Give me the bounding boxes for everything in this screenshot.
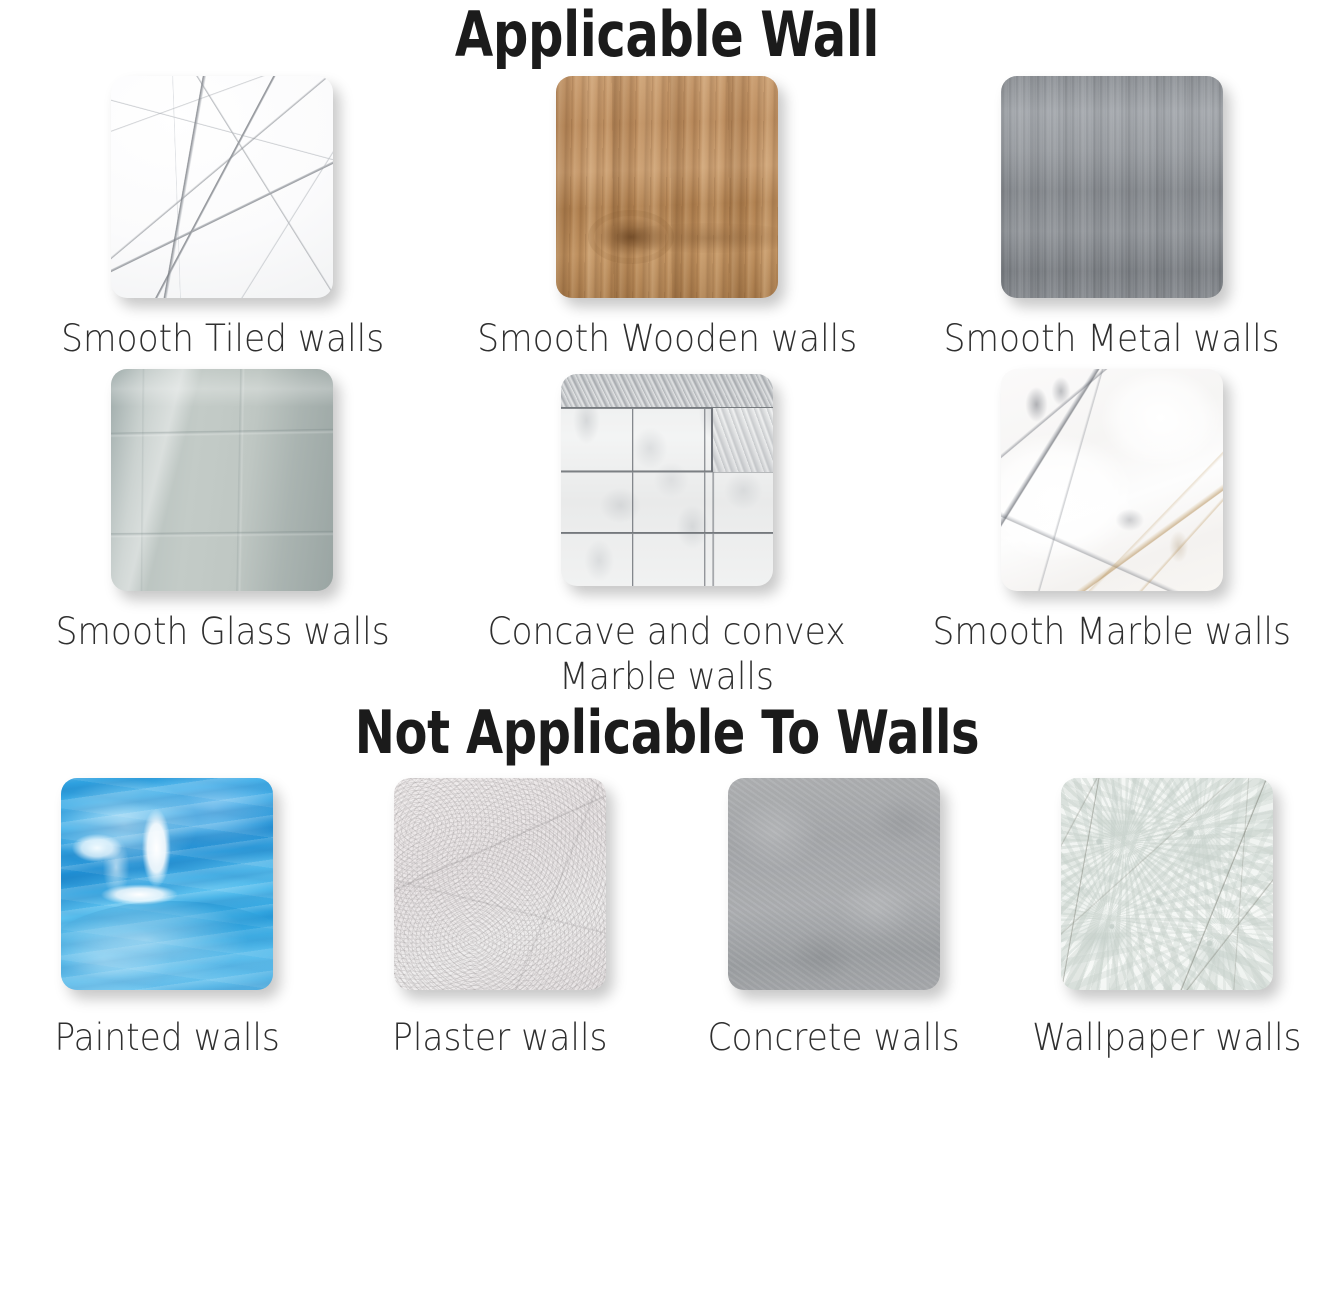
section-heading-not-applicable: Not Applicable To Walls xyxy=(133,701,1200,765)
swatch-cell-smooth-marble[interactable]: Smooth Marble walls xyxy=(889,361,1334,699)
wood-knot xyxy=(594,216,668,258)
swatch-frame xyxy=(561,361,773,599)
swatch-label: Plaster walls xyxy=(393,1015,608,1060)
concrete-swatch xyxy=(728,778,940,990)
swatch-cell-painted[interactable]: Painted walls xyxy=(0,765,334,1060)
swatch-frame xyxy=(1001,68,1223,306)
swatch-label: Smooth Wooden walls xyxy=(477,316,857,361)
swatch-frame xyxy=(111,68,333,306)
swatch-label: Concrete walls xyxy=(708,1015,960,1060)
swatch-label: Concave and convex Marble walls xyxy=(488,609,846,699)
swatch-frame xyxy=(111,361,333,599)
swatch-frame xyxy=(1001,361,1223,599)
swatch-label: Smooth Tiled walls xyxy=(61,316,384,361)
swatch-frame xyxy=(728,765,940,1003)
applicable-row-2: Smooth Glass walls Concave and convex Ma… xyxy=(0,361,1334,699)
swatch-frame xyxy=(61,765,273,1003)
tiled-swatch xyxy=(111,76,333,298)
marble-swatch xyxy=(1001,369,1223,591)
brick-right-course xyxy=(711,408,773,472)
glass-reflection-overlay xyxy=(111,369,333,591)
marble-vein-overlay xyxy=(111,76,333,298)
swatch-label: Smooth Metal walls xyxy=(944,316,1280,361)
paint-white-swirl xyxy=(61,778,273,990)
swatch-label: Smooth Marble walls xyxy=(932,609,1290,654)
swatch-label: Painted walls xyxy=(54,1015,279,1060)
marble-clouds xyxy=(1001,369,1223,591)
wallpaper-branch-overlay xyxy=(1061,778,1273,990)
swatch-cell-smooth-tiled[interactable]: Smooth Tiled walls xyxy=(0,68,445,361)
not-applicable-row-1: Painted walls Plaster walls Concrete wal… xyxy=(0,765,1334,1060)
infographic-page: Applicable Wall Smooth Tiled walls Smoot… xyxy=(0,0,1334,1314)
brick-marble-swatch xyxy=(561,374,773,586)
applicable-row-1: Smooth Tiled walls Smooth Wooden walls S… xyxy=(0,68,1334,361)
brick-top-course xyxy=(561,374,773,407)
plaster-swatch xyxy=(394,778,606,990)
swatch-cell-plaster[interactable]: Plaster walls xyxy=(334,765,668,1060)
painted-swatch xyxy=(61,778,273,990)
swatch-cell-smooth-metal[interactable]: Smooth Metal walls xyxy=(889,68,1334,361)
swatch-cell-smooth-wooden[interactable]: Smooth Wooden walls xyxy=(445,68,890,361)
plaster-crack-overlay xyxy=(394,778,606,990)
swatch-frame xyxy=(1061,765,1273,1003)
swatch-cell-concrete[interactable]: Concrete walls xyxy=(667,765,1001,1060)
swatch-cell-concave-convex-marble[interactable]: Concave and convex Marble walls xyxy=(445,361,890,699)
metal-swatch xyxy=(1001,76,1223,298)
swatch-cell-wallpaper[interactable]: Wallpaper walls xyxy=(1001,765,1334,1060)
swatch-label: Wallpaper walls xyxy=(1033,1015,1302,1060)
wallpaper-swatch xyxy=(1061,778,1273,990)
glass-swatch xyxy=(111,369,333,591)
section-heading-applicable: Applicable Wall xyxy=(133,0,1200,68)
wooden-swatch xyxy=(556,76,778,298)
swatch-cell-smooth-glass[interactable]: Smooth Glass walls xyxy=(0,361,445,699)
swatch-frame xyxy=(394,765,606,1003)
swatch-label: Smooth Glass walls xyxy=(55,609,389,654)
swatch-frame xyxy=(556,68,778,306)
